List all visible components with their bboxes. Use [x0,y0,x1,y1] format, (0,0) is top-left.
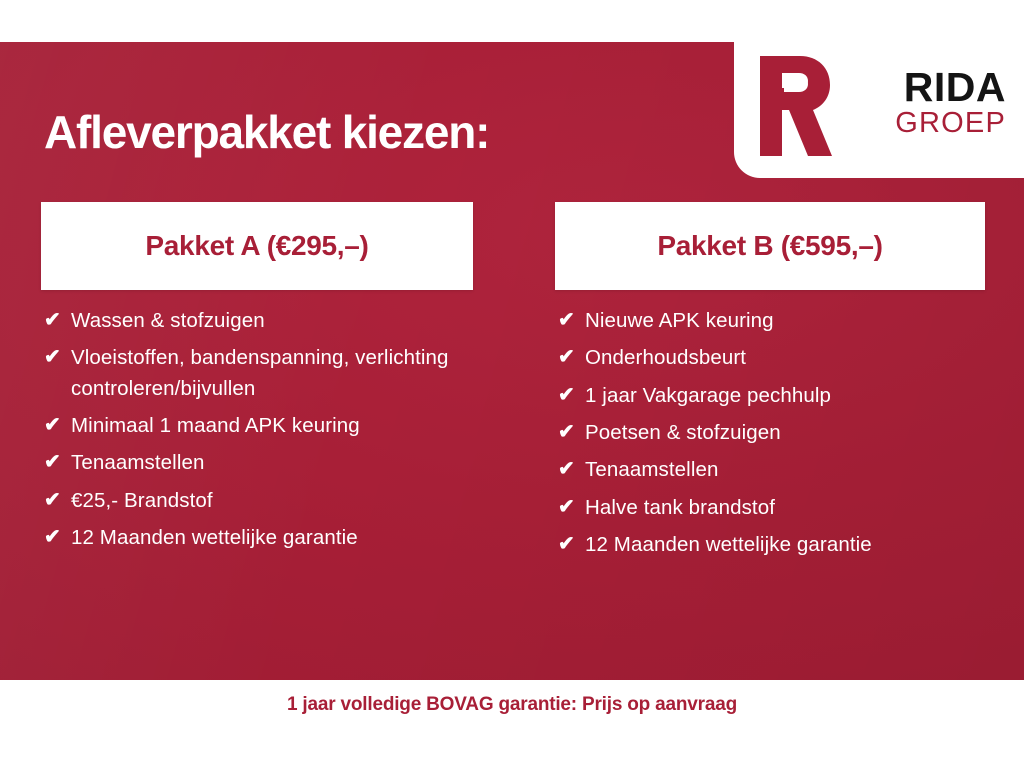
feature-text: Tenaamstellen [71,448,473,478]
check-icon: ✔ [555,343,585,373]
check-icon: ✔ [41,523,71,553]
package-column-a: Pakket A (€295,–) ✔ Wassen & stofzuigen … [41,202,473,560]
list-item: ✔ Vloeistoffen, bandenspanning, verlicht… [41,343,473,404]
feature-text: Poetsen & stofzuigen [585,418,985,448]
list-item: ✔ Onderhoudsbeurt [555,343,985,373]
list-item: ✔ Tenaamstellen [41,448,473,478]
check-icon: ✔ [41,343,71,373]
feature-text: Onderhoudsbeurt [585,343,985,373]
brand-name-primary: RIDA [904,68,1006,107]
list-item: ✔ Nieuwe APK keuring [555,306,985,336]
check-icon: ✔ [555,530,585,560]
feature-text: Vloeistoffen, bandenspanning, verlichtin… [71,343,473,404]
rida-r-monogram-icon [756,52,832,156]
check-icon: ✔ [41,411,71,441]
package-b-title: Pakket B (€595,–) [657,230,882,262]
feature-text: Halve tank brandstof [585,493,985,523]
feature-text: 1 jaar Vakgarage pechhulp [585,381,985,411]
brand-logo: RIDA GROEP [734,28,1024,178]
brand-wordmark: RIDA GROEP [844,68,1024,138]
list-item: ✔ Halve tank brandstof [555,493,985,523]
check-icon: ✔ [555,381,585,411]
package-a-feature-list: ✔ Wassen & stofzuigen ✔ Vloeistoffen, ba… [41,290,473,553]
list-item: ✔ €25,- Brandstof [41,486,473,516]
feature-text: Minimaal 1 maand APK keuring [71,411,473,441]
feature-text: 12 Maanden wettelijke garantie [585,530,985,560]
list-item: ✔ 12 Maanden wettelijke garantie [555,530,985,560]
footer-bar: 1 jaar volledige BOVAG garantie: Prijs o… [0,680,1024,768]
feature-text: €25,- Brandstof [71,486,473,516]
package-b-feature-list: ✔ Nieuwe APK keuring ✔ Onderhoudsbeurt ✔… [555,290,985,560]
list-item: ✔ Tenaamstellen [555,455,985,485]
brand-name-secondary: GROEP [895,108,1006,138]
check-icon: ✔ [41,486,71,516]
feature-text: Tenaamstellen [585,455,985,485]
package-a-title: Pakket A (€295,–) [145,230,368,262]
footer-guarantee-text: 1 jaar volledige BOVAG garantie: Prijs o… [287,694,737,716]
package-column-b: Pakket B (€595,–) ✔ Nieuwe APK keuring ✔… [555,202,985,567]
feature-text: Wassen & stofzuigen [71,306,473,336]
list-item: ✔ 1 jaar Vakgarage pechhulp [555,381,985,411]
list-item: ✔ Minimaal 1 maand APK keuring [41,411,473,441]
feature-text: 12 Maanden wettelijke garantie [71,523,473,553]
list-item: ✔ Poetsen & stofzuigen [555,418,985,448]
feature-text: Nieuwe APK keuring [585,306,985,336]
slide-canvas: Afleverpakket kiezen: RIDA GROEP Pakket … [0,0,1024,768]
check-icon: ✔ [41,306,71,336]
list-item: ✔ 12 Maanden wettelijke garantie [41,523,473,553]
check-icon: ✔ [555,493,585,523]
package-b-header-card[interactable]: Pakket B (€595,–) [555,202,985,290]
package-a-header-card[interactable]: Pakket A (€295,–) [41,202,473,290]
check-icon: ✔ [555,418,585,448]
check-icon: ✔ [41,448,71,478]
check-icon: ✔ [555,455,585,485]
check-icon: ✔ [555,306,585,336]
list-item: ✔ Wassen & stofzuigen [41,306,473,336]
